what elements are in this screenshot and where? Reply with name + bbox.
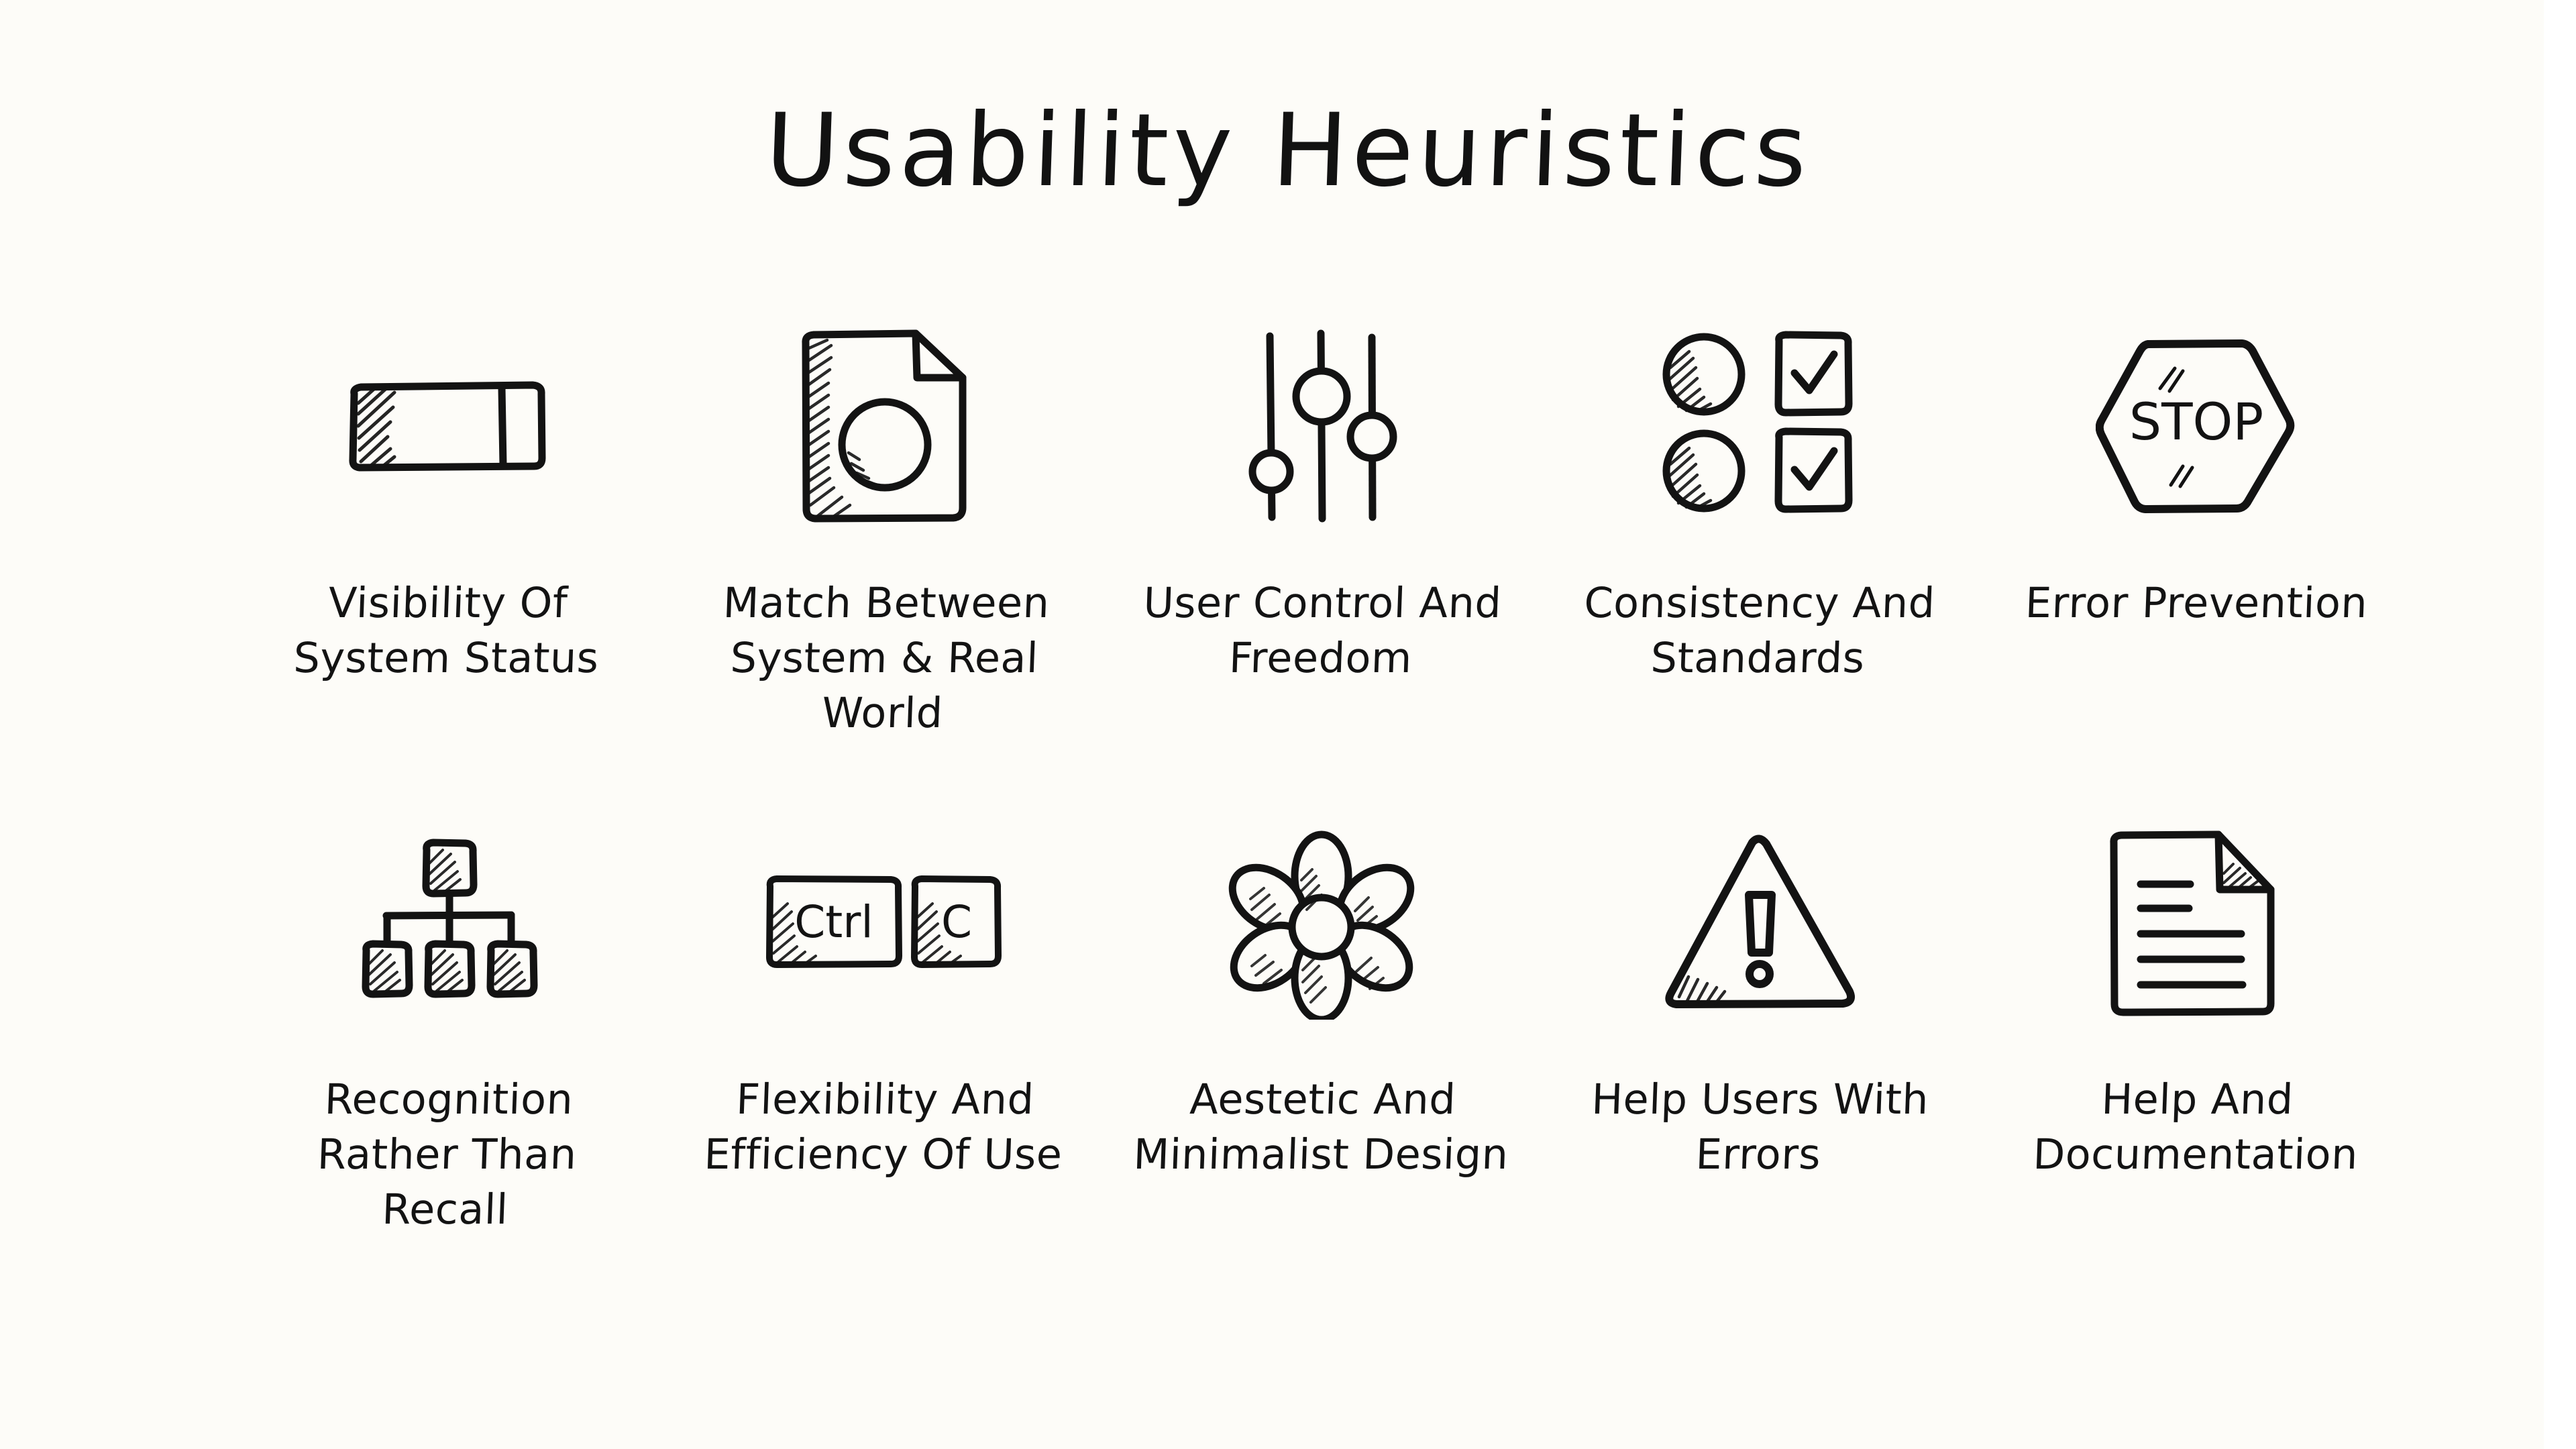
heuristic-label: Aestetic And Minimalist Design [1132, 1072, 1511, 1182]
heuristic-label: Recognition Rather Than Recall [314, 1072, 579, 1236]
stop-sign-text: STOP [2129, 392, 2263, 451]
heuristic-label: Visibility Of System Status [292, 576, 602, 686]
stop-sign-icon: STOP [2096, 332, 2297, 520]
icon-slot: Ctrl C [763, 812, 1005, 1033]
icon-slot [1228, 812, 1415, 1033]
heuristic-label: Flexibility And Efficiency Of Use [703, 1072, 1065, 1182]
heuristics-grid: Visibility Of System Status [228, 315, 2415, 1308]
page-title: Usability Heuristics [0, 101, 2576, 201]
document-circle-icon [794, 325, 975, 527]
heuristic-card-error-prevention: STOP Error Prevention [1978, 315, 2415, 812]
heuristic-label: Consistency And Standards [1582, 576, 1937, 686]
key-c-text: C [941, 896, 972, 948]
heuristic-card-flexibility-and-efficiency-of-use: Ctrl C Flexibility And Efficiency Of Use [665, 812, 1103, 1308]
heuristic-card-help-users-with-errors: Help Users With Errors [1540, 812, 1978, 1308]
icon-slot [1662, 812, 1856, 1033]
progress-bar-icon [346, 372, 547, 480]
heuristic-card-match-between-system-and-real-world: Match Between System & Real World [665, 315, 1103, 812]
icon-slot [353, 812, 541, 1033]
icon-slot [794, 315, 975, 537]
heuristic-card-recognition-rather-than-recall: Recognition Rather Than Recall [228, 812, 665, 1308]
icon-slot [2099, 812, 2294, 1033]
icon-slot: STOP [2096, 315, 2297, 537]
heuristic-card-consistency-and-standards: Consistency And Standards [1540, 315, 1978, 812]
flower-icon [1228, 825, 1415, 1020]
hierarchy-tree-icon [353, 835, 541, 1010]
key-ctrl-text: Ctrl [794, 896, 873, 948]
heuristic-label: Help Users With Errors [1589, 1072, 1929, 1182]
sliders-icon [1238, 325, 1405, 527]
heuristic-card-visibility-of-system-status: Visibility Of System Status [228, 315, 665, 812]
heuristic-label: Help And Documentation [2032, 1072, 2361, 1182]
icon-slot [1238, 315, 1405, 537]
heuristic-card-help-and-documentation: Help And Documentation [1978, 812, 2415, 1308]
document-lines-icon [2099, 825, 2294, 1020]
heuristic-card-aestetic-and-minimalist-design: Aestetic And Minimalist Design [1103, 812, 1540, 1308]
heuristic-card-user-control-and-freedom: User Control And Freedom [1103, 315, 1540, 812]
heuristic-label: Error Prevention [2024, 576, 2368, 631]
icon-slot [346, 315, 547, 537]
keyboard-shortcut-icon: Ctrl C [763, 869, 1005, 976]
heuristic-label: User Control And Freedom [1140, 576, 1503, 686]
heuristic-label: Match Between System & Real World [718, 576, 1050, 740]
right-edge-band [2544, 0, 2576, 1449]
radio-checkbox-grid-icon [1658, 329, 1860, 523]
poster-canvas: Usability Heuristics [0, 0, 2576, 1449]
icon-slot [1658, 315, 1860, 537]
warning-triangle-icon [1662, 825, 1856, 1020]
